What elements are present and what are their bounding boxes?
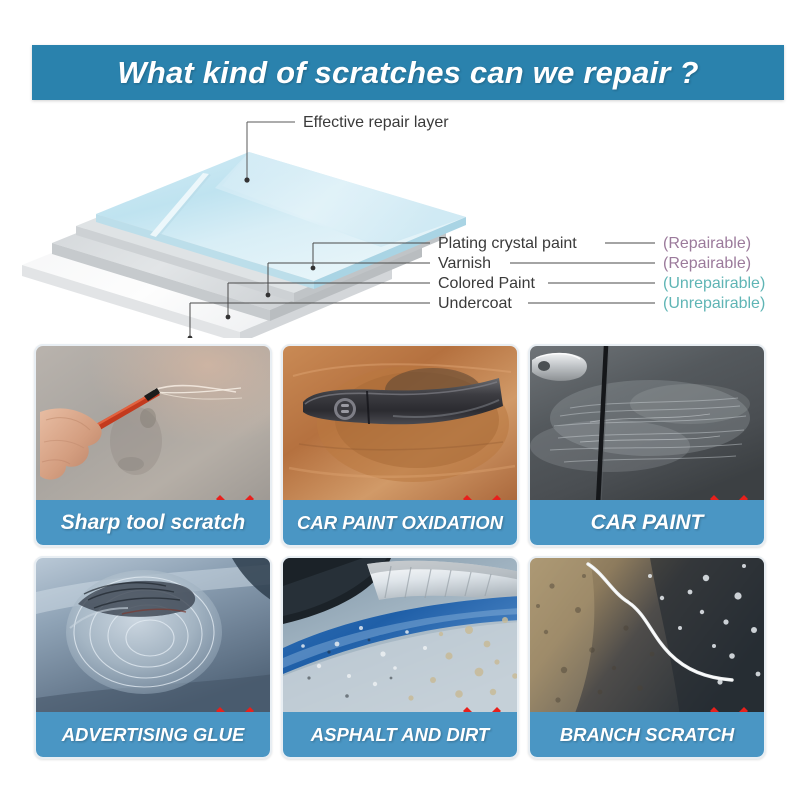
damage-tile-branch-scratch[interactable]: BRANCH SCRATCH (528, 556, 766, 759)
layer-status-1: (Repairable) (663, 255, 751, 272)
caption-bar: Sharp tool scratch (36, 500, 270, 545)
layer-status-0: (Repairable) (663, 235, 751, 252)
damage-tile-car-paint-oxidation[interactable]: CAR PAINT OXIDATION (281, 344, 519, 547)
paint-layer-diagram: Effective repair layer Plating crystal p… (0, 100, 800, 338)
layer-label-2: Colored Paint (438, 275, 536, 292)
callout-dot-undercoat (188, 336, 193, 338)
damage-tile-advertising-glue[interactable]: ADVERTISING GLUE (34, 556, 272, 759)
caption-bar: BRANCH SCRATCH (530, 712, 764, 757)
layer-label-0: Plating crystal paint (438, 235, 577, 252)
tile-caption: BRANCH SCRATCH (560, 724, 734, 746)
callout-dot-plating-crystal-paint (311, 266, 316, 271)
oxidized-car-door-handle-photo (283, 346, 517, 504)
scuffed-dark-car-door-photo (530, 346, 764, 504)
callout-dot-colored-paint (226, 315, 231, 320)
callout-label-effective-repair-layer: Effective repair layer (303, 114, 449, 131)
damage-tile-asphalt-and-dirt[interactable]: ASPHALT AND DIRT (281, 556, 519, 759)
layer-status-2: (Unrepairable) (663, 275, 765, 292)
dirty-blue-panel-headlight-photo (283, 558, 517, 716)
white-branch-scratch-line-photo (530, 558, 764, 716)
tile-caption: ASPHALT AND DIRT (311, 724, 490, 746)
damage-tile-sharp-tool-scratch[interactable]: Sharp tool scratch (34, 344, 272, 547)
layer-status-3: (Unrepairable) (663, 295, 765, 312)
damage-type-grid: Sharp tool scratch (34, 344, 768, 759)
hand-tool-scratching-panel-photo (36, 346, 270, 504)
layer-label-3: Undercoat (438, 295, 512, 312)
tile-caption: Sharp tool scratch (61, 511, 245, 535)
damage-tile-car-paint[interactable]: CAR PAINT (528, 344, 766, 547)
caption-bar: CAR PAINT OXIDATION (283, 500, 517, 545)
caption-bar: ADVERTISING GLUE (36, 712, 270, 757)
header-banner: What kind of scratches can we repair ? (32, 45, 784, 100)
callout-dot-effective-repair-layer (244, 177, 249, 182)
page-title: What kind of scratches can we repair ? (32, 45, 784, 100)
caption-bar: ASPHALT AND DIRT (283, 712, 517, 757)
caption-bar: CAR PAINT (530, 500, 764, 545)
glue-residue-on-car-body-photo (36, 558, 270, 716)
layer-label-1: Varnish (438, 255, 491, 272)
tile-caption: ADVERTISING GLUE (62, 724, 245, 746)
tile-caption: CAR PAINT (591, 511, 704, 535)
tile-caption: CAR PAINT OXIDATION (297, 512, 503, 534)
callout-dot-varnish (266, 293, 271, 298)
